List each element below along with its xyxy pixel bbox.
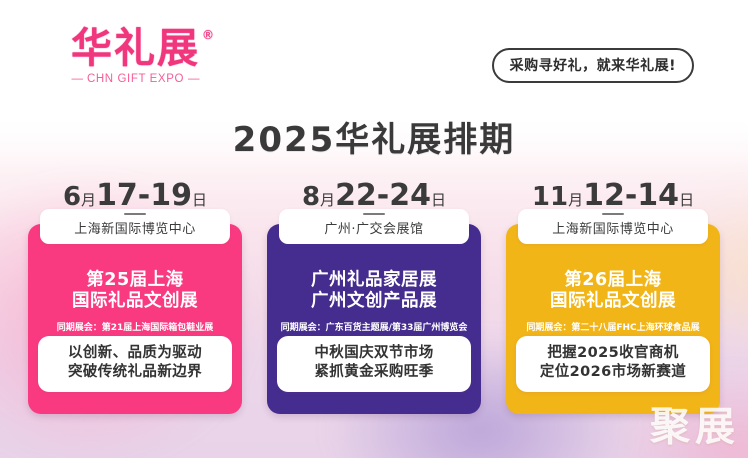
card-2-venue-box: 广州·广交会展馆 [279,209,469,244]
logo-subtitle-dash-left: — [67,73,87,85]
card-2-concurrent-events: 同期展会：广东百货主题展/第33届广州博览会 [267,320,481,333]
card-3-date-month-unit: 月 [568,191,583,209]
watermark: 聚展 [650,394,740,452]
card-2-slogan-line-2: 紧抓黄金采购旺季 [277,363,471,382]
card-1-date-month: 6 [63,182,81,212]
card-3-title-line-2: 国际礼品文创展 [506,291,720,312]
schedule-cards: 6月17-19日 上海新国际博览中心 第25届上海 国际礼品文创展 同期展会：第… [0,178,748,418]
card-1-slogan-box: 以创新、品质为驱动 突破传统礼品新边界 [38,336,232,392]
card-2-slogan-line-1: 中秋国庆双节市场 [277,344,471,363]
card-2-venue-text: 广州·广交会展馆 [279,218,469,237]
card-2-slogan-box: 中秋国庆双节市场 紧抓黄金采购旺季 [277,336,471,392]
card-1-venue-divider [124,213,146,215]
schedule-card-2[interactable]: 8月22-24日 广州·广交会展馆 广州礼品家居展 广州文创产品展 同期展会：广… [261,178,487,414]
card-2-date-month-unit: 月 [320,191,335,209]
card-3-date-days: 12-14 [583,178,679,213]
card-3-slogan-line-2: 定位2026市场新赛道 [516,363,710,382]
card-3-title: 第26届上海 国际礼品文创展 [506,270,720,313]
card-3-date-month: 11 [532,182,568,212]
card-2-title-line-1: 广州礼品家居展 [267,270,481,291]
card-2-venue-divider [363,213,385,215]
schedule-card-3[interactable]: 11月12-14日 上海新国际博览中心 第26届上海 国际礼品文创展 同期展会：… [500,178,726,414]
card-3-date-day-unit: 日 [679,191,694,209]
schedule-card-1[interactable]: 6月17-19日 上海新国际博览中心 第25届上海 国际礼品文创展 同期展会：第… [22,178,248,414]
card-1-venue-text: 上海新国际博览中心 [40,218,230,237]
card-2-date-days: 22-24 [335,178,431,213]
card-1-venue-box: 上海新国际博览中心 [40,209,230,244]
logo-wordmark: 华礼展 ® [71,27,200,70]
registered-trademark-icon: ® [202,29,216,42]
card-2-date-month: 8 [302,182,320,212]
card-3-venue-divider [602,213,624,215]
card-2-title-line-2: 广州文创产品展 [267,291,481,312]
card-1-date-days: 17-19 [96,178,192,213]
card-1-slogan-line-2: 突破传统礼品新边界 [38,363,232,382]
tagline-pill: 采购寻好礼，就来华礼展! [492,48,694,83]
poster-canvas: 华礼展 ® —CHN GIFT EXPO— 采购寻好礼，就来华礼展! 2025华… [0,0,748,458]
logo-subtitle: —CHN GIFT EXPO— [53,73,218,85]
card-1-date-month-unit: 月 [81,191,96,209]
card-3-venue-box: 上海新国际博览中心 [518,209,708,244]
card-1-date-day-unit: 日 [192,191,207,209]
card-1-title-line-1: 第25届上海 [28,270,242,291]
logo-wordmark-text: 华礼展 [71,24,200,72]
card-1-slogan-line-1: 以创新、品质为驱动 [38,344,232,363]
logo-subtitle-dash-right: — [184,73,204,85]
card-2-date-day-unit: 日 [431,191,446,209]
card-1-title-line-2: 国际礼品文创展 [28,291,242,312]
logo-subtitle-text: CHN GIFT EXPO [87,73,184,85]
card-3-slogan-box: 把握2025收官商机 定位2026市场新赛道 [516,336,710,392]
header: 华礼展 ® —CHN GIFT EXPO— 采购寻好礼，就来华礼展! [0,0,748,112]
card-3-title-line-1: 第26届上海 [506,270,720,291]
card-3-venue-text: 上海新国际博览中心 [518,218,708,237]
card-2-title: 广州礼品家居展 广州文创产品展 [267,270,481,313]
page-title: 2025华礼展排期 [0,112,748,161]
card-3-concurrent-events: 同期展会：第二十八届FHC上海环球食品展 [506,320,720,333]
card-1-title: 第25届上海 国际礼品文创展 [28,270,242,313]
brand-logo: 华礼展 ® —CHN GIFT EXPO— [53,27,218,85]
card-3-slogan-line-1: 把握2025收官商机 [516,344,710,363]
card-3-date: 11月12-14日 [500,178,726,213]
card-2-date: 8月22-24日 [261,178,487,213]
card-1-date: 6月17-19日 [22,178,248,213]
card-1-concurrent-events: 同期展会：第21届上海国际箱包鞋业展 [28,320,242,333]
